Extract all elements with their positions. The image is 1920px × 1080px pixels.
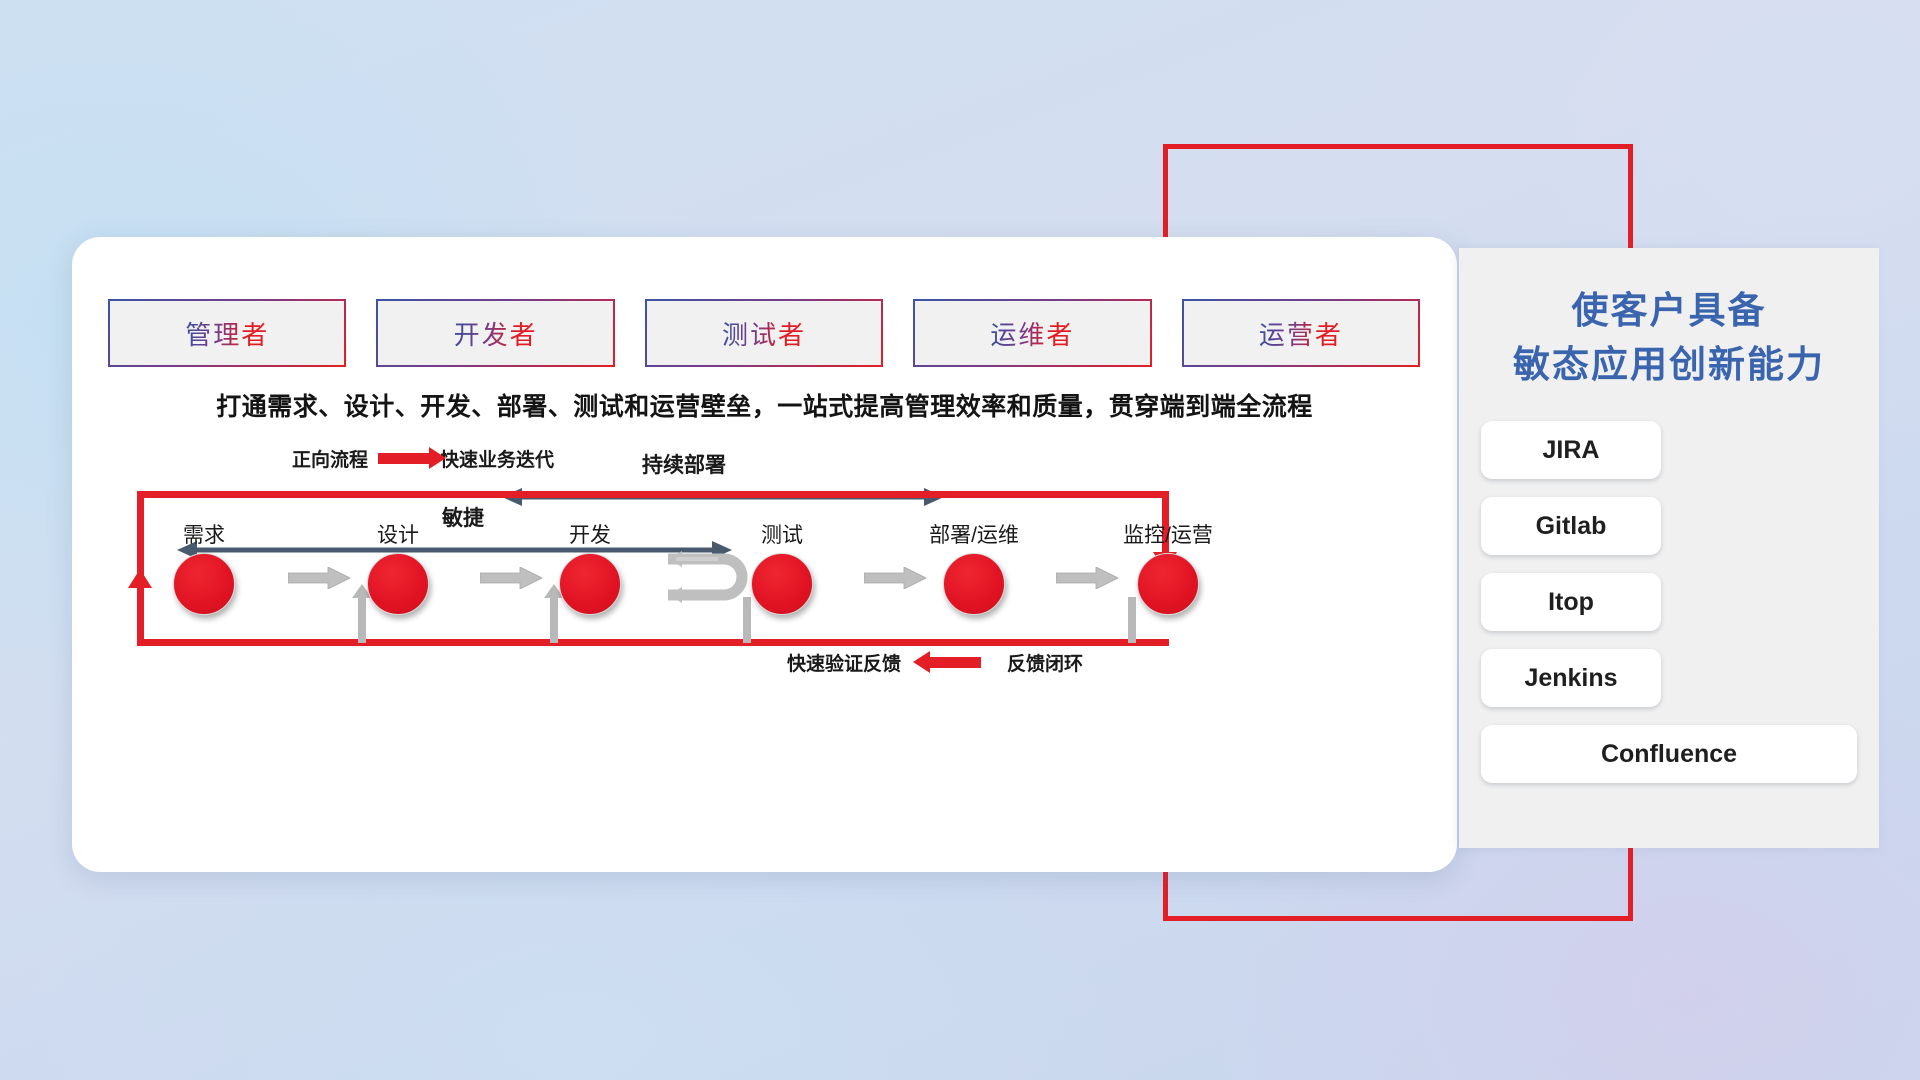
stage-dot-icon <box>1137 553 1199 615</box>
pipeline-stage-requirements[interactable]: 需求 <box>144 519 264 615</box>
legend-forward-flow: 正向流程 快速业务迭代 <box>292 445 554 472</box>
stage-dot-icon <box>559 553 621 615</box>
side-panel-heading-line-1: 使客户具备 <box>1459 284 1879 338</box>
stage-dot-icon <box>751 553 813 615</box>
tool-chip-label: Gitlab <box>1536 512 1607 541</box>
role-label: 运维者 <box>990 315 1074 352</box>
role-label: 测试者 <box>722 315 806 352</box>
stage-dot-icon <box>943 553 1005 615</box>
stage-label: 开发 <box>530 519 650 549</box>
tagline-text: 打通需求、设计、开发、部署、测试和运营壁垒，一站式提高管理效率和质量，贯穿端到端… <box>72 387 1457 423</box>
pipeline-stage-deploy-ops[interactable]: 部署/运维 <box>914 519 1034 615</box>
slide-canvas: 管理者 开发者 测试者 运维者 运营者 打通需求、设计、开发、部署、测试和运营壁… <box>0 0 1920 1080</box>
role-box-tester[interactable]: 测试者 <box>645 299 883 367</box>
tool-chip-gitlab[interactable]: Gitlab <box>1481 497 1661 555</box>
pipeline-stage-test[interactable]: 测试 <box>722 519 842 615</box>
stage-dot-icon <box>173 553 235 615</box>
continuous-deployment-label: 持续部署 <box>642 449 726 479</box>
legend-feedback-left-label: 快速验证反馈 <box>787 649 901 676</box>
role-box-business-operations[interactable]: 运营者 <box>1182 299 1420 367</box>
stage-label: 需求 <box>144 519 264 549</box>
tool-chip-label: JIRA <box>1543 436 1600 465</box>
toolchain-grid: JIRA Gitlab Itop Jenkins Confluence <box>1481 421 1857 783</box>
role-label: 管理者 <box>185 315 269 352</box>
stage-dot-icon <box>367 553 429 615</box>
tool-chip-label: Confluence <box>1601 740 1737 769</box>
legend-feedback-loop: 快速验证反馈 反馈闭环 <box>787 649 1083 676</box>
main-content-card: 管理者 开发者 测试者 运维者 运营者 打通需求、设计、开发、部署、测试和运营壁… <box>72 237 1457 872</box>
toolchain-side-panel: 使客户具备 敏态应用创新能力 JIRA Gitlab Itop Jenkins … <box>1459 248 1879 848</box>
tool-chip-label: Jenkins <box>1524 664 1617 693</box>
side-panel-heading: 使客户具备 敏态应用创新能力 <box>1459 248 1879 391</box>
pipeline-stage-develop[interactable]: 开发 <box>530 519 650 615</box>
role-box-operations[interactable]: 运维者 <box>913 299 1151 367</box>
red-arrow-right-icon <box>378 453 430 464</box>
tool-chip-jira[interactable]: JIRA <box>1481 421 1661 479</box>
stage-label: 设计 <box>338 519 458 549</box>
role-label: 开发者 <box>454 315 538 352</box>
legend-forward-left-label: 正向流程 <box>292 445 368 472</box>
stage-label: 测试 <box>722 519 842 549</box>
tool-chip-confluence[interactable]: Confluence <box>1481 725 1857 783</box>
role-box-manager[interactable]: 管理者 <box>108 299 346 367</box>
stage-label: 部署/运维 <box>914 519 1034 549</box>
role-box-developer[interactable]: 开发者 <box>376 299 614 367</box>
role-label: 运营者 <box>1259 315 1343 352</box>
feedback-loop-top-line <box>137 491 1169 498</box>
stage-label: 监控/运营 <box>1108 519 1228 549</box>
tool-chip-jenkins[interactable]: Jenkins <box>1481 649 1661 707</box>
legend-feedback-right-label: 反馈闭环 <box>1007 649 1083 676</box>
side-panel-heading-line-2: 敏态应用创新能力 <box>1459 338 1879 392</box>
pipeline-row: 需求 设计 开发 <box>108 519 1420 649</box>
tool-chip-itop[interactable]: Itop <box>1481 573 1661 631</box>
tool-chip-label: Itop <box>1548 588 1594 617</box>
roles-row: 管理者 开发者 测试者 运维者 运营者 <box>108 299 1420 367</box>
pipeline-stage-design[interactable]: 设计 <box>338 519 458 615</box>
legend-forward-right-label: 快速业务迭代 <box>440 445 554 472</box>
pipeline-stage-monitor-operate[interactable]: 监控/运营 <box>1108 519 1228 615</box>
red-arrow-left-icon <box>929 657 981 668</box>
